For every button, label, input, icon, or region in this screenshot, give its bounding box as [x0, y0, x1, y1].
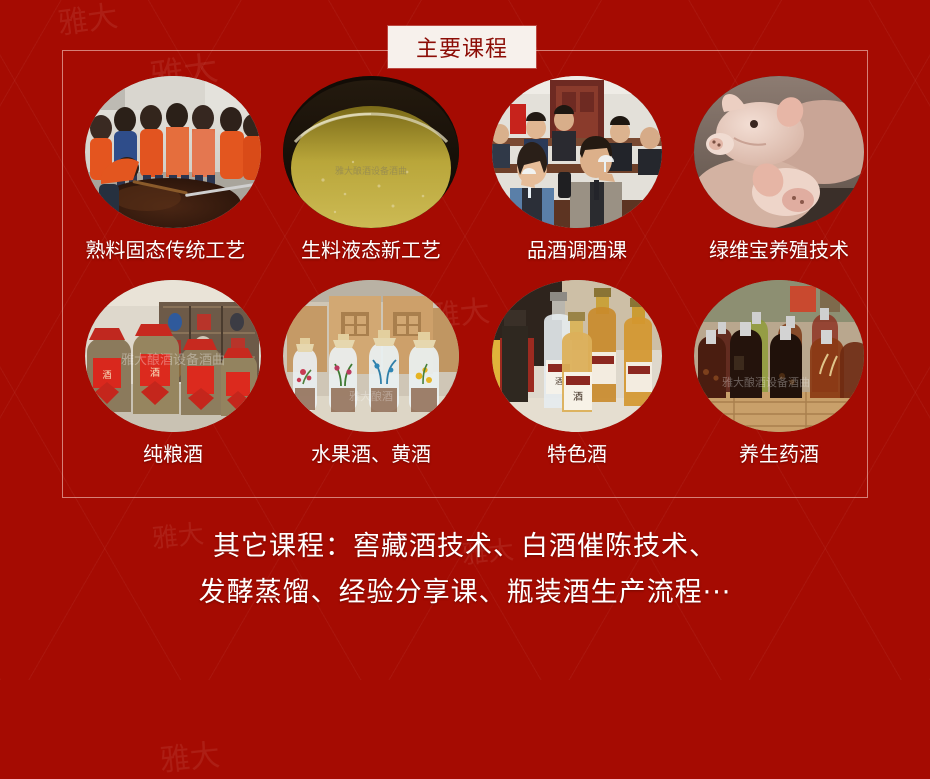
course-card-pure-grain-liquor[interactable]: 酒 酒 [78, 280, 268, 480]
course-image-students-shoveling-fermented-grain [85, 76, 261, 228]
course-label: 熟料固态传统工艺 [85, 234, 245, 263]
watermark-text: 雅大 [159, 741, 222, 777]
course-image-ceramic-liquor-jars-shelf: 酒 酒 [85, 280, 261, 432]
course-card-specialty-liquor[interactable]: 酒 [482, 280, 672, 480]
section-title-banner: 主要课程 [388, 26, 536, 68]
course-card-raw-liquid-new[interactable]: 雅大酿酒设备酒曲 生料液态新工艺 [276, 76, 466, 276]
course-label: 水果酒、黄酒 [311, 438, 431, 467]
watermark-text: 雅大 [56, 2, 120, 40]
other-courses-note: 其它课程：窖藏酒技术、白酒催陈技术、 发酵蒸馏、经验分享课、瓶装酒生产流程··· [0, 524, 930, 616]
course-image-labeled-clear-amber-bottles: 酒 [492, 280, 662, 432]
course-card-tasting-blending[interactable]: 品酒调酒课 [482, 76, 672, 276]
course-label: 养生药酒 [739, 438, 819, 467]
svg-text:酒: 酒 [573, 391, 583, 403]
other-courses-line-1: 其它课程：窖藏酒技术、白酒催陈技术、 [0, 524, 930, 570]
course-image-classroom-liquor-tasting [492, 76, 662, 228]
course-image-decorated-bottles-kraft-boxes: 雅大酿酒 [283, 280, 459, 432]
course-image-piglets-in-pen [694, 76, 864, 228]
svg-text:酒: 酒 [102, 370, 111, 381]
course-label: 品酒调酒课 [527, 234, 627, 263]
svg-text:雅大酿酒设备酒曲: 雅大酿酒设备酒曲 [121, 352, 225, 368]
svg-text:酒: 酒 [150, 367, 160, 379]
course-card-cooked-solid-traditional[interactable]: 熟料固态传统工艺 [78, 76, 268, 276]
course-label: 纯粮酒 [143, 438, 203, 467]
course-label: 绿维宝养殖技术 [709, 234, 849, 263]
course-card-lvweibao-breeding[interactable]: 绿维宝养殖技术 [684, 76, 874, 276]
course-label: 特色酒 [547, 438, 607, 467]
page-title: 主要课程 [416, 31, 508, 63]
other-courses-line-2: 发酵蒸馏、经验分享课、瓶装酒生产流程··· [0, 570, 930, 616]
svg-text:雅大酿酒设备酒曲: 雅大酿酒设备酒曲 [722, 375, 810, 389]
svg-text:雅大酿酒设备酒曲: 雅大酿酒设备酒曲 [335, 165, 407, 177]
course-card-fruit-yellow-wine[interactable]: 雅大酿酒 水果酒、黄酒 [276, 280, 466, 480]
svg-text:雅大酿酒: 雅大酿酒 [349, 389, 393, 403]
course-image-fermentation-vat-golden-liquid: 雅大酿酒设备酒曲 [283, 76, 459, 228]
course-card-health-medicinal-liquor[interactable]: 雅大酿酒设备酒曲 养生药酒 [684, 280, 874, 480]
course-label: 生料液态新工艺 [301, 234, 441, 263]
svg-text:酒: 酒 [555, 377, 563, 386]
course-grid: 熟料固态传统工艺 [62, 72, 868, 482]
course-image-dark-herbal-medicinal-bottles: 雅大酿酒设备酒曲 [694, 280, 864, 432]
